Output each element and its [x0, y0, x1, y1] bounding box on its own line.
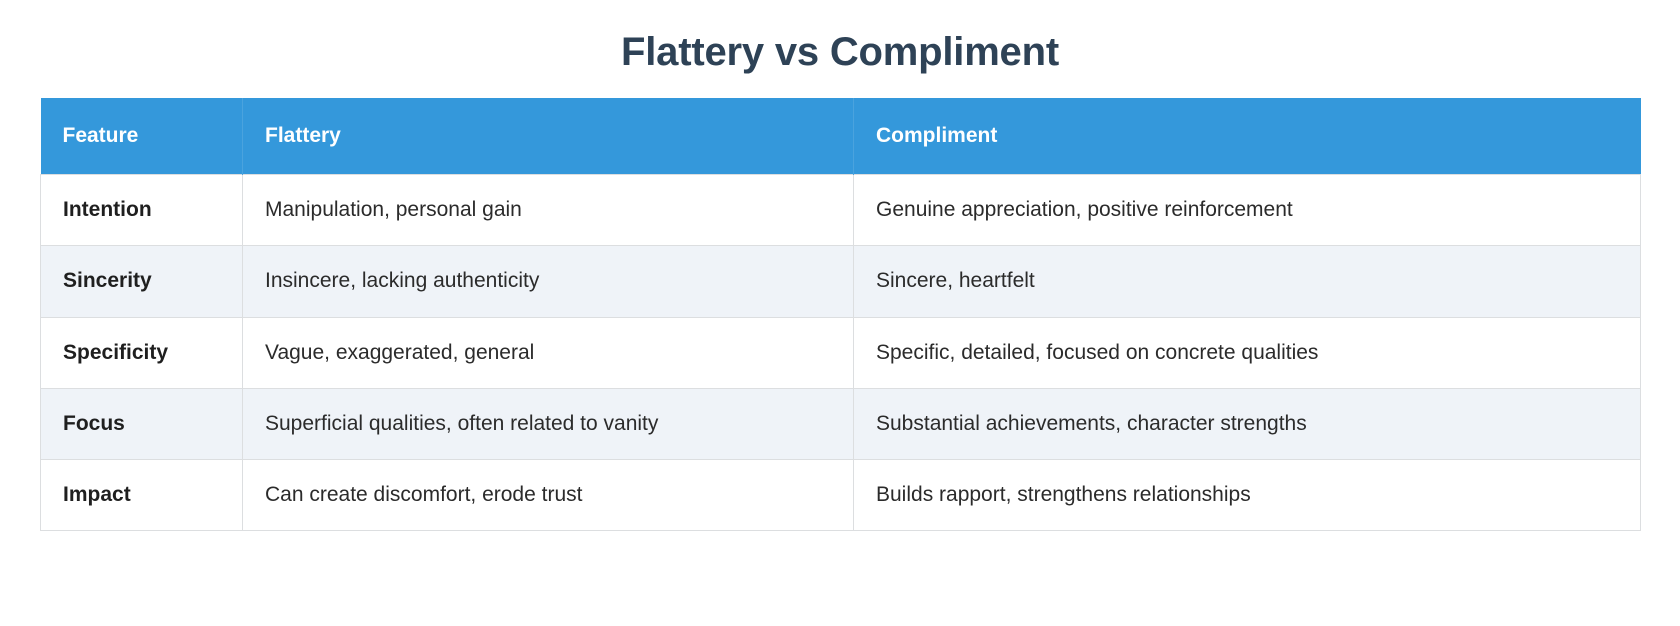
table-row: Sincerity Insincere, lacking authenticit…	[41, 246, 1641, 317]
page-root: Flattery vs Compliment Feature Flattery …	[0, 0, 1680, 626]
column-header-compliment: Compliment	[854, 98, 1641, 175]
comparison-table-container: Feature Flattery Compliment Intention Ma…	[40, 98, 1640, 531]
table-row: Focus Superficial qualities, often relat…	[41, 388, 1641, 459]
cell-flattery: Manipulation, personal gain	[243, 175, 854, 246]
cell-feature: Focus	[41, 388, 243, 459]
table-row: Specificity Vague, exaggerated, general …	[41, 317, 1641, 388]
table-header-row: Feature Flattery Compliment	[41, 98, 1641, 175]
cell-feature: Specificity	[41, 317, 243, 388]
cell-flattery: Superficial qualities, often related to …	[243, 388, 854, 459]
column-header-flattery: Flattery	[243, 98, 854, 175]
table-header: Feature Flattery Compliment	[41, 98, 1641, 175]
table-body: Intention Manipulation, personal gain Ge…	[41, 175, 1641, 531]
cell-compliment: Sincere, heartfelt	[854, 246, 1641, 317]
cell-feature: Impact	[41, 460, 243, 531]
cell-feature: Sincerity	[41, 246, 243, 317]
cell-compliment: Substantial achievements, character stre…	[854, 388, 1641, 459]
comparison-table: Feature Flattery Compliment Intention Ma…	[40, 98, 1641, 531]
column-header-feature: Feature	[41, 98, 243, 175]
cell-flattery: Vague, exaggerated, general	[243, 317, 854, 388]
cell-compliment: Specific, detailed, focused on concrete …	[854, 317, 1641, 388]
cell-compliment: Genuine appreciation, positive reinforce…	[854, 175, 1641, 246]
table-row: Intention Manipulation, personal gain Ge…	[41, 175, 1641, 246]
table-row: Impact Can create discomfort, erode trus…	[41, 460, 1641, 531]
cell-compliment: Builds rapport, strengthens relationship…	[854, 460, 1641, 531]
page-title: Flattery vs Compliment	[0, 0, 1680, 76]
cell-feature: Intention	[41, 175, 243, 246]
cell-flattery: Insincere, lacking authenticity	[243, 246, 854, 317]
cell-flattery: Can create discomfort, erode trust	[243, 460, 854, 531]
